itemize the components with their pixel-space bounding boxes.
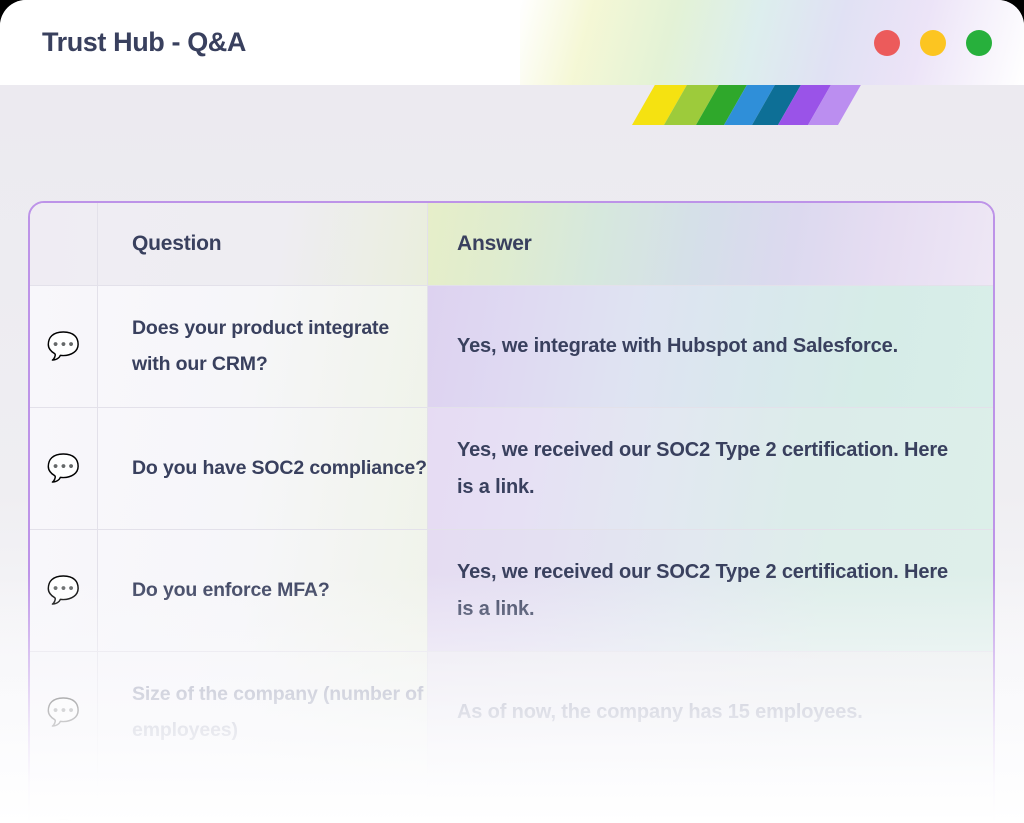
answer-text: Yes, we received our SOC2 Type 2 certifi… bbox=[457, 554, 967, 627]
row-icon-cell: 💬 bbox=[30, 530, 98, 651]
speech-balloon-icon: 💬 bbox=[47, 577, 81, 604]
browser-window: Trust Hub - Q&A bbox=[0, 0, 1024, 823]
qa-table: Question Answer 💬 Does your product inte… bbox=[28, 201, 995, 823]
minimize-button[interactable] bbox=[920, 30, 946, 56]
row-icon-cell: 💬 bbox=[30, 408, 98, 529]
content-area: Question Answer 💬 Does your product inte… bbox=[0, 85, 1024, 823]
answer-cell[interactable]: Yes, we received our SOC2 Type 2 certifi… bbox=[428, 408, 993, 529]
row-icon-cell: 💬 bbox=[30, 774, 98, 823]
table-row[interactable]: 💬 Do you have SOC2 compliance? Yes, we r… bbox=[30, 407, 993, 529]
speech-balloon-icon: 💬 bbox=[47, 455, 81, 482]
page-title: Trust Hub - Q&A bbox=[42, 27, 246, 58]
question-cell[interactable]: Size of the company (number of employees… bbox=[98, 652, 428, 773]
question-text: Company Vision and bbox=[132, 817, 322, 823]
question-cell[interactable]: Does your product integrate with our CRM… bbox=[98, 286, 428, 407]
table-row[interactable]: 💬 Company Vision and 1up is a knowledge … bbox=[30, 773, 993, 823]
rainbow-ribbon-decoration bbox=[604, 85, 904, 125]
row-icon-cell: 💬 bbox=[30, 652, 98, 773]
answer-cell[interactable]: Yes, we integrate with Hubspot and Sales… bbox=[428, 286, 993, 407]
answer-cell[interactable]: Yes, we received our SOC2 Type 2 certifi… bbox=[428, 530, 993, 651]
header-cell-question[interactable]: Question bbox=[98, 203, 428, 285]
maximize-button[interactable] bbox=[966, 30, 992, 56]
question-text: Does your product integrate with our CRM… bbox=[132, 311, 427, 382]
header-cell-answer[interactable]: Answer bbox=[428, 203, 993, 285]
table-row[interactable]: 💬 Do you enforce MFA? Yes, we received o… bbox=[30, 529, 993, 651]
table-header-row: Question Answer bbox=[30, 203, 993, 285]
header-cell-icon bbox=[30, 203, 98, 285]
question-cell[interactable]: Company Vision and bbox=[98, 774, 428, 823]
question-text: Size of the company (number of employees… bbox=[132, 677, 427, 748]
answer-cell[interactable]: 1up is a knowledge auto... bbox=[428, 774, 993, 823]
question-text: Do you have SOC2 compliance? bbox=[132, 451, 427, 486]
question-cell[interactable]: Do you have SOC2 compliance? bbox=[98, 408, 428, 529]
table-row[interactable]: 💬 Does your product integrate with our C… bbox=[30, 285, 993, 407]
column-header-answer: Answer bbox=[457, 232, 532, 256]
answer-text: As of now, the company has 15 employees. bbox=[457, 694, 863, 730]
answer-text: Yes, we integrate with Hubspot and Sales… bbox=[457, 328, 898, 364]
close-button[interactable] bbox=[874, 30, 900, 56]
table-row[interactable]: 💬 Size of the company (number of employe… bbox=[30, 651, 993, 773]
column-header-question: Question bbox=[132, 232, 221, 256]
speech-balloon-icon: 💬 bbox=[47, 699, 81, 726]
answer-text: 1up is a knowledge auto... bbox=[457, 816, 701, 823]
answer-cell[interactable]: As of now, the company has 15 employees. bbox=[428, 652, 993, 773]
speech-balloon-icon: 💬 bbox=[47, 333, 81, 360]
row-icon-cell: 💬 bbox=[30, 286, 98, 407]
title-bar: Trust Hub - Q&A bbox=[0, 0, 1024, 85]
answer-text: Yes, we received our SOC2 Type 2 certifi… bbox=[457, 432, 967, 505]
question-cell[interactable]: Do you enforce MFA? bbox=[98, 530, 428, 651]
question-text: Do you enforce MFA? bbox=[132, 573, 330, 608]
window-controls bbox=[874, 30, 992, 56]
